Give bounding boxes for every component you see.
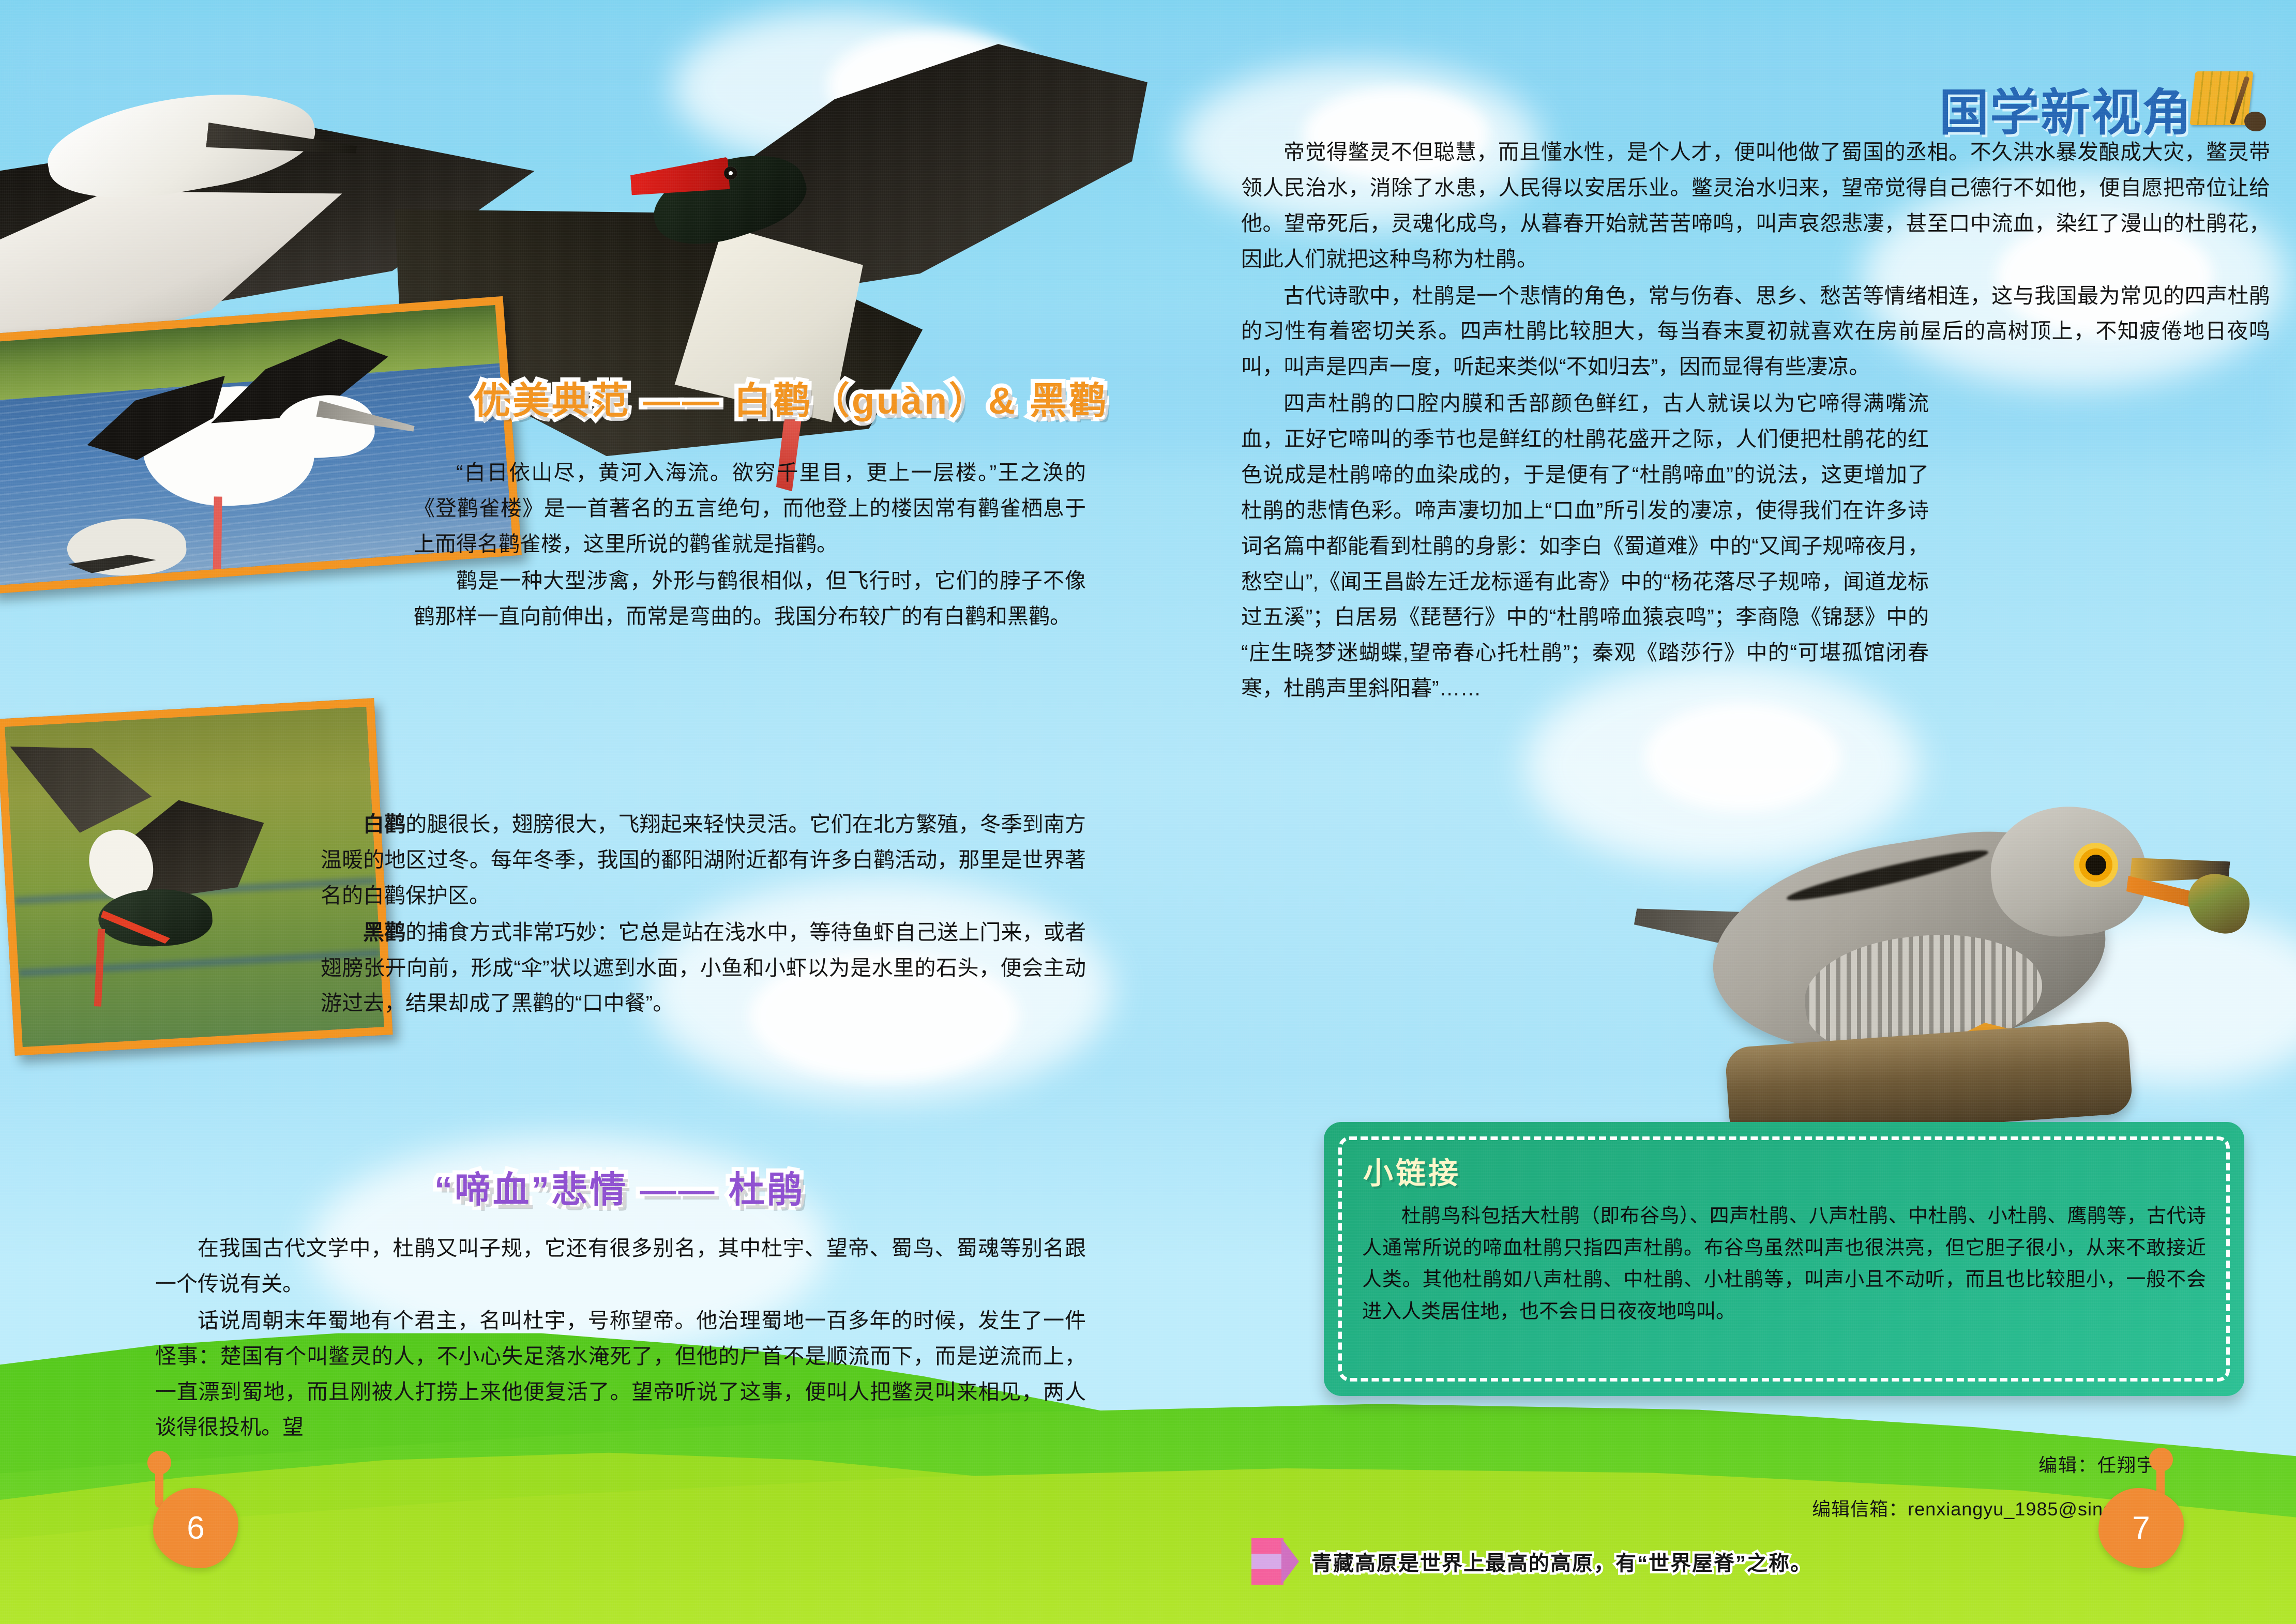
text-wrap-spacer — [1929, 386, 2270, 675]
fun-fact-text: 青藏高原是世界上最高的高原，有“世界屋脊”之称。 — [1311, 1546, 1812, 1576]
paragraph: 话说周朝末年蜀地有个君主，名叫杜宇，号称望帝。他治理蜀地一百多年的时候，发生了一… — [155, 1303, 1086, 1446]
editor-credit: 编辑：任翔宇 — [2038, 1450, 2156, 1477]
link-box-title: 小链接 — [1363, 1149, 1461, 1192]
bamboo-scroll-brush-icon — [2193, 67, 2260, 129]
section-heading-cuckoo: “啼血”悲情 —— 杜鹃 — [434, 1161, 805, 1213]
small-link-callout-box: 小链接 杜鹃鸟科包括大杜鹃（即布谷鸟）、四声杜鹃、八声杜鹃、中杜鹃、小杜鹃、鹰鹃… — [1324, 1122, 2244, 1396]
fun-fact-tip-bar: 青藏高原是世界上最高的高原，有“世界屋脊”之称。 — [1251, 1538, 1812, 1585]
paragraph: 杜鹃鸟科包括大杜鹃（即布谷鸟）、四声杜鹃、八声杜鹃、中杜鹃、小杜鹃、鹰鹃等，古代… — [1362, 1201, 2206, 1328]
masthead-title: 国学新视角 — [1939, 72, 2193, 144]
page-number-left: 6 — [153, 1488, 238, 1568]
section-heading-storks: 优美典范 —— 白鹳（guàn）& 黑鹳 — [473, 370, 1108, 424]
left-column-text-c: 在我国古代文学中，杜鹃又叫子规，它还有很多别名，其中杜宇、望帝、蜀鸟、蜀魂等别名… — [155, 1231, 1086, 1446]
left-column-text-a: “白日依山尽，黄河入海流。欲穷千里目，更上一层楼。”王之涣的《登鹳雀楼》是一首著… — [414, 455, 1086, 635]
paragraph: 帝觉得鳖灵不但聪慧，而且懂水性，是个人才，便叫他做了蜀国的丞相。不久洪水暴发酿成… — [1241, 134, 2270, 277]
pencil-arrow-icon — [1251, 1538, 1299, 1585]
paragraph: 黑鹳的捕食方式非常巧妙：它总是站在浅水中，等待鱼虾自己送上门来，或者翅膀张开向前… — [321, 915, 1086, 1022]
paragraph: 白鹳的腿很长，翅膀很大，飞翔起来轻快灵活。它们在北方繁殖，冬季到南方温暖的地区过… — [321, 807, 1086, 914]
right-column-text: 帝觉得鳖灵不但聪慧，而且懂水性，是个人才，便叫他做了蜀国的丞相。不久洪水暴发酿成… — [1241, 134, 2270, 707]
magazine-spread: 国学新视角 — [0, 0, 2296, 1624]
paragraph: “白日依山尽，黄河入海流。欲穷千里目，更上一层楼。”王之涣的《登鹳雀楼》是一首著… — [414, 455, 1086, 562]
left-column-text-b: 白鹳的腿很长，翅膀很大，飞翔起来轻快灵活。它们在北方繁殖，冬季到南方温暖的地区过… — [321, 807, 1086, 1022]
page-number-right: 7 — [2098, 1488, 2184, 1568]
paragraph: 在我国古代文学中，杜鹃又叫子规，它还有很多别名，其中杜宇、望帝、蜀鸟、蜀魂等别名… — [155, 1231, 1086, 1302]
common-cuckoo-on-log-photo — [1650, 765, 2260, 1158]
paragraph: 古代诗歌中，杜鹃是一个悲情的角色，常与伤春、思乡、愁苦等情绪相连，这与我国最为常… — [1241, 278, 2270, 385]
page-pin-left — [155, 1467, 163, 1508]
link-box-body: 杜鹃鸟科包括大杜鹃（即布谷鸟）、四声杜鹃、八声杜鹃、中杜鹃、小杜鹃、鹰鹃等，古代… — [1362, 1201, 2206, 1328]
paragraph: 鹳是一种大型涉禽，外形与鹤很相似，但飞行时，它们的脖子不像鹤那样一直向前伸出，而… — [414, 563, 1086, 634]
